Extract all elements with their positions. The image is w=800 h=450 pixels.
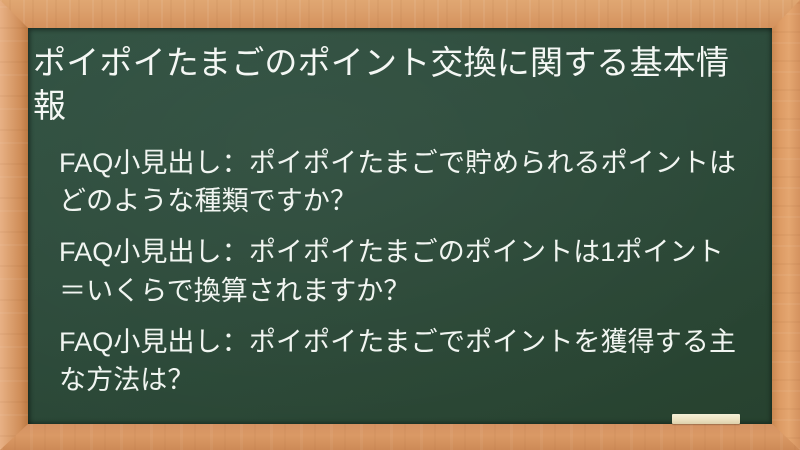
list-item: FAQ小見出し：ポイポイたまごのポイントは1ポイント＝いくらで換算されますか？ <box>59 233 750 310</box>
wood-grain-texture-bottom <box>0 424 800 450</box>
chalkboard-content: ポイポイたまごのポイント交換に関する基本情報 FAQ小見出し：ポイポイたまごで貯… <box>28 28 772 424</box>
chalkboard-frame: ポイポイたまごのポイント交換に関する基本情報 FAQ小見出し：ポイポイたまごで貯… <box>0 0 800 450</box>
chalkboard-surface: ポイポイたまごのポイント交換に関する基本情報 FAQ小見出し：ポイポイたまごで貯… <box>28 28 772 424</box>
frame-rail-left <box>0 0 29 450</box>
wood-grain-texture-top <box>0 0 800 29</box>
wood-grain-texture-left <box>0 0 29 450</box>
wood-grain-texture-right <box>771 0 800 450</box>
page-title: ポイポイたまごのポイント交換に関する基本情報 <box>33 38 750 128</box>
list-item: FAQ小見出し：ポイポイたまごで貯められるポイントはどのような種類ですか？ <box>59 144 750 221</box>
chalk-stick-icon <box>672 414 740 424</box>
frame-rail-bottom <box>0 424 800 450</box>
list-item: FAQ小見出し：ポイポイたまごでポイントを獲得する主な方法は？ <box>59 323 750 400</box>
frame-rail-right <box>771 0 800 450</box>
frame-rail-top <box>0 0 800 29</box>
faq-list: FAQ小見出し：ポイポイたまごで貯められるポイントはどのような種類ですか？ FA… <box>33 144 750 400</box>
